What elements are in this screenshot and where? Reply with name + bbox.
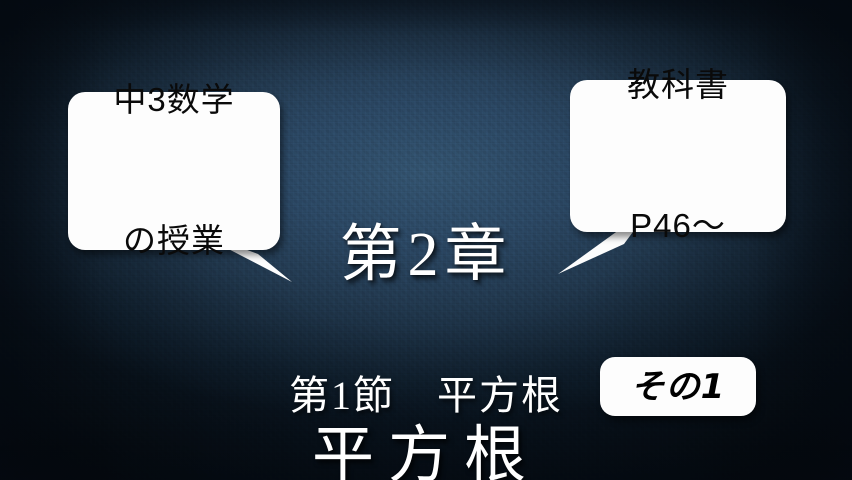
speech-bubble-left-text: 中3数学 の授業 xyxy=(113,0,234,358)
part-badge: その1 xyxy=(600,357,756,416)
speech-bubble-left-line-2: の授業 xyxy=(113,218,234,265)
part-badge-label: その1 xyxy=(631,370,726,404)
speech-bubble-right: 教科書 P46〜 xyxy=(570,80,786,232)
speech-bubble-right-text: 教科書 P46〜 xyxy=(627,0,729,343)
speech-bubble-right-line-2: P46〜 xyxy=(627,203,729,250)
speech-bubble-left: 中3数学 の授業 xyxy=(68,92,280,250)
video-title-slide: 第2章 平方根 第1節 平方根 2:素因数分解 中3数学 の授業 教科書 P46… xyxy=(0,0,852,480)
speech-bubble-right-line-1: 教科書 xyxy=(627,62,729,109)
speech-bubble-left-line-1: 中3数学 xyxy=(113,77,234,124)
